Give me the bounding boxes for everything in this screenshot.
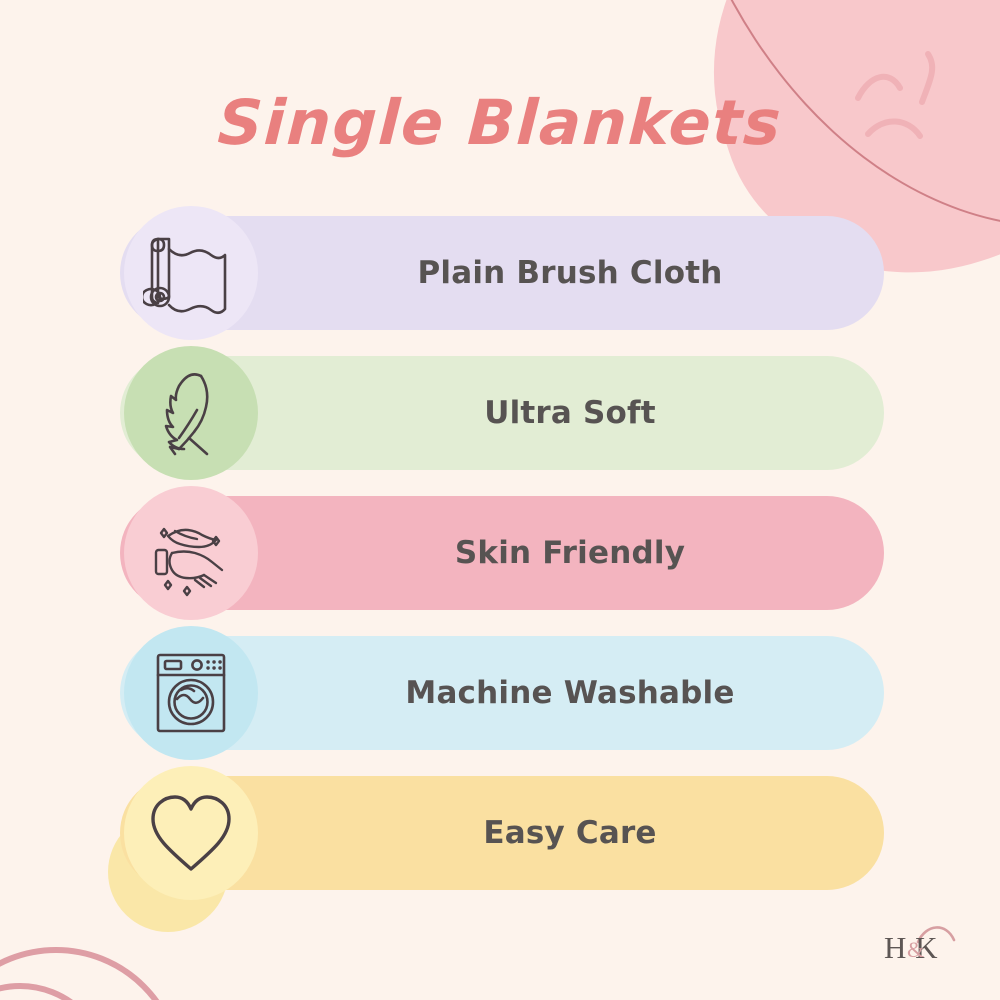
caring-hands-icon — [124, 486, 258, 620]
feather-icon — [124, 346, 258, 480]
list-item[interactable]: Easy Care — [120, 776, 884, 890]
poster-canvas: Single Blankets Pl — [0, 0, 1000, 1000]
list-item-label: Machine Washable — [270, 675, 870, 711]
list-item-label: Ultra Soft — [270, 395, 870, 431]
list-item[interactable]: Machine Washable — [120, 636, 884, 750]
list-item[interactable]: Ultra Soft — [120, 356, 884, 470]
brand-logo: H K & — [884, 918, 976, 974]
heart-icon — [124, 766, 258, 900]
feature-list: Plain Brush Cloth Ultra Soft — [120, 216, 884, 916]
list-item-label: Skin Friendly — [270, 535, 870, 571]
fabric-roll-icon — [124, 206, 258, 340]
list-item[interactable]: Plain Brush Cloth — [120, 216, 884, 330]
list-item-label: Plain Brush Cloth — [270, 255, 870, 291]
list-item-label: Easy Care — [270, 815, 870, 851]
washing-machine-icon — [124, 626, 258, 760]
list-item[interactable]: Skin Friendly — [120, 496, 884, 610]
logo-ampersand: & — [907, 937, 924, 963]
page-title: Single Blankets — [0, 86, 1000, 159]
